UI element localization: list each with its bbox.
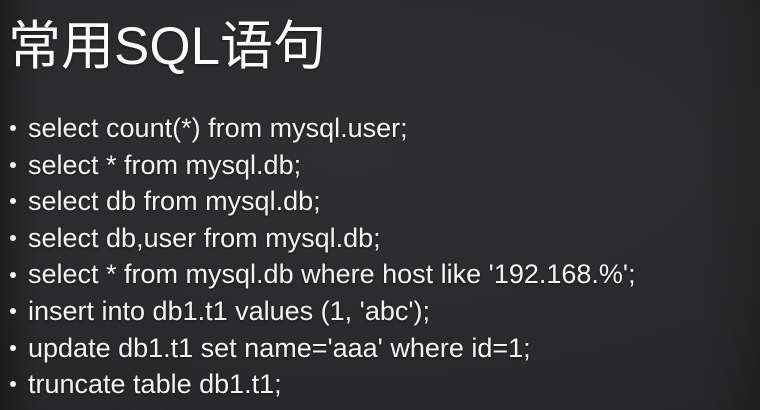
list-item-label: drop table db1.t1; [28,406,238,410]
list-item-label: update db1.t1 set name='aaa' where id=1; [28,333,531,363]
list-item: truncate table db1.t1; [6,366,760,403]
list-item-label: select db from mysql.db; [28,186,321,216]
bullet-dot-icon [10,381,16,387]
page-title: 常用SQL语句 [8,12,326,82]
list-item: select db from mysql.db; [6,183,760,220]
bullet-dot-icon [10,125,16,131]
bullet-dot-icon [10,308,16,314]
list-item: select * from mysql.db where host like '… [6,256,760,293]
list-item: insert into db1.t1 values (1, 'abc'); [6,293,760,330]
bullet-dot-icon [10,162,16,168]
bullet-dot-icon [10,345,16,351]
bullet-dot-icon [10,198,16,204]
list-item-label: select * from mysql.db where host like '… [28,259,636,289]
list-item-label: select db,user from mysql.db; [28,223,381,253]
list-item: select * from mysql.db; [6,147,760,184]
list-item: select count(*) from mysql.user; [6,110,760,147]
slide-canvas: 常用SQL语句 select count(*) from mysql.user;… [0,0,760,410]
sql-statement-list: select count(*) from mysql.user; select … [6,110,760,410]
list-item: select db,user from mysql.db; [6,220,760,257]
bullet-dot-icon [10,235,16,241]
list-item-label: insert into db1.t1 values (1, 'abc'); [28,296,430,326]
list-item-label: select * from mysql.db; [28,150,301,180]
list-item-label: truncate table db1.t1; [28,369,282,399]
list-item: update db1.t1 set name='aaa' where id=1; [6,330,760,367]
list-item-clipped: drop table db1.t1; [6,403,760,410]
bullet-dot-icon [10,272,16,278]
list-item-label: select count(*) from mysql.user; [28,113,408,143]
